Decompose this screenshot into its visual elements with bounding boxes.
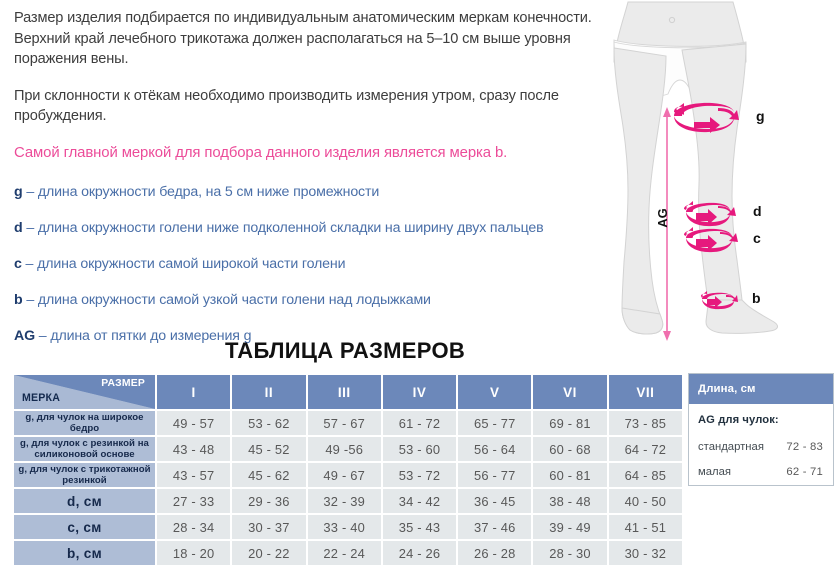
intro-paragraph-2: При склонности к отёкам необходимо произ…	[14, 86, 614, 127]
g-label: g	[756, 108, 765, 124]
size-table: РАЗМЕР МЕРКА I II III IV V VI VII g, для…	[12, 373, 684, 567]
length-row-name: малая	[698, 466, 731, 478]
cell-value: 49 - 67	[308, 463, 381, 487]
cell-value: 45 - 52	[232, 437, 305, 461]
length-panel-header: Длина, см	[689, 374, 833, 404]
row-label: d, см	[14, 489, 155, 513]
cell-value: 27 - 33	[157, 489, 230, 513]
legend-dash-d: –	[26, 220, 34, 236]
cell-value: 56 - 64	[458, 437, 531, 461]
cell-value: 69 - 81	[533, 411, 606, 435]
length-panel: Длина, см AG для чулок: стандартная 72 -…	[688, 373, 834, 486]
cell-value: 65 - 77	[458, 411, 531, 435]
cell-value: 53 - 62	[232, 411, 305, 435]
cell-value: 41 - 51	[609, 515, 682, 539]
legend-item-g: g – длина окружности бедра, на 5 см ниже…	[14, 183, 614, 201]
cell-value: 73 - 85	[609, 411, 682, 435]
c-label: c	[753, 230, 761, 246]
cell-value: 61 - 72	[383, 411, 456, 435]
cell-value: 43 - 57	[157, 463, 230, 487]
cell-value: 30 - 37	[232, 515, 305, 539]
cell-value: 43 - 48	[157, 437, 230, 461]
legend-text-d: длина окружности голени ниже подколенной…	[38, 220, 544, 236]
cell-value: 28 - 30	[533, 541, 606, 565]
legend-key-d: d	[14, 220, 23, 236]
row-label: g, для чулок с резинкой на силиконовой о…	[14, 437, 155, 461]
column-header-6: VI	[533, 375, 606, 409]
cell-value: 49 - 57	[157, 411, 230, 435]
row-label: g, для чулок на широкое бедро	[14, 411, 155, 435]
table-body: g, для чулок на широкое бедро 49 - 57 53…	[14, 411, 682, 565]
cell-value: 34 - 42	[383, 489, 456, 513]
row-label: c, см	[14, 515, 155, 539]
legend-text-b: длина окружности самой узкой части голен…	[38, 292, 431, 308]
table-header-row: РАЗМЕР МЕРКА I II III IV V VI VII	[14, 375, 682, 409]
cell-value: 57 - 67	[308, 411, 381, 435]
female-lower-body-figure	[614, 2, 777, 334]
cell-value: 28 - 34	[157, 515, 230, 539]
column-header-2: II	[232, 375, 305, 409]
cell-value: 30 - 32	[609, 541, 682, 565]
table-row: g, для чулок с трикотажной резинкой 43 -…	[14, 463, 682, 487]
legend-item-d: d – длина окружности голени ниже подколе…	[14, 219, 614, 237]
legend-dash-b: –	[26, 292, 34, 308]
length-row-value: 62 - 71	[786, 466, 823, 478]
table-row: d, см 27 - 33 29 - 36 32 - 39 34 - 42 36…	[14, 489, 682, 513]
cell-value: 60 - 81	[533, 463, 606, 487]
cell-value: 39 - 49	[533, 515, 606, 539]
legend-key-b: b	[14, 292, 23, 308]
cell-value: 18 - 20	[157, 541, 230, 565]
legend-item-b: b – длина окружности самой узкой части г…	[14, 291, 614, 309]
leg-measurement-illustration: AG g d c	[596, 0, 836, 345]
cell-value: 24 - 26	[383, 541, 456, 565]
cell-value: 37 - 46	[458, 515, 531, 539]
column-header-3: III	[308, 375, 381, 409]
legend-dash-c: –	[26, 256, 34, 272]
length-panel-subtitle: AG для чулок:	[689, 404, 833, 435]
cell-value: 49 -56	[308, 437, 381, 461]
d-label: d	[753, 203, 762, 219]
cell-value: 64 - 85	[609, 463, 682, 487]
column-header-4: IV	[383, 375, 456, 409]
cell-value: 53 - 72	[383, 463, 456, 487]
intro-text-column: Размер изделия подбирается по индивидуал…	[14, 8, 614, 363]
legend-item-c: c – длина окружности самой широкой части…	[14, 255, 614, 273]
cell-value: 38 - 48	[533, 489, 606, 513]
cell-value: 29 - 36	[232, 489, 305, 513]
ag-label: AG	[655, 208, 670, 228]
measurement-legend: g – длина окружности бедра, на 5 см ниже…	[14, 183, 614, 345]
length-row-name: стандартная	[698, 441, 764, 453]
legend-key-c: c	[14, 256, 22, 272]
table-corner-cell: РАЗМЕР МЕРКА	[14, 375, 155, 409]
b-label: b	[752, 290, 761, 306]
cell-value: 45 - 62	[232, 463, 305, 487]
row-label: g, для чулок с трикотажной резинкой	[14, 463, 155, 487]
page-title: ТАБЛИЦА РАЗМЕРОВ	[0, 338, 690, 364]
table-row: c, см 28 - 34 30 - 37 33 - 40 35 - 43 37…	[14, 515, 682, 539]
table-row: g, для чулок с резинкой на силиконовой о…	[14, 437, 682, 461]
intro-highlight: Самой главной меркой для подбора данного…	[14, 143, 614, 163]
legend-text-c: длина окружности самой широкой части гол…	[37, 256, 345, 272]
cell-value: 53 - 60	[383, 437, 456, 461]
cell-value: 26 - 28	[458, 541, 531, 565]
length-panel-row-small: малая 62 - 71	[689, 460, 833, 485]
legend-text-g: длина окружности бедра, на 5 см ниже про…	[38, 184, 379, 200]
corner-measure-label: МЕРКА	[22, 392, 60, 404]
cell-value: 60 - 68	[533, 437, 606, 461]
length-panel-row-standard: стандартная 72 - 83	[689, 435, 833, 460]
column-header-7: VII	[609, 375, 682, 409]
size-table-container: РАЗМЕР МЕРКА I II III IV V VI VII g, для…	[12, 373, 684, 567]
table-row: b, см 18 - 20 20 - 22 22 - 24 24 - 26 26…	[14, 541, 682, 565]
column-header-5: V	[458, 375, 531, 409]
row-label: b, см	[14, 541, 155, 565]
cell-value: 32 - 39	[308, 489, 381, 513]
cell-value: 40 - 50	[609, 489, 682, 513]
cell-value: 56 - 77	[458, 463, 531, 487]
column-header-1: I	[157, 375, 230, 409]
cell-value: 33 - 40	[308, 515, 381, 539]
cell-value: 22 - 24	[308, 541, 381, 565]
intro-paragraph-1: Размер изделия подбирается по индивидуал…	[14, 8, 614, 70]
table-header: РАЗМЕР МЕРКА I II III IV V VI VII	[14, 375, 682, 409]
corner-size-label: РАЗМЕР	[101, 378, 145, 389]
legend-dash-g: –	[26, 184, 34, 200]
legend-key-g: g	[14, 184, 23, 200]
length-row-value: 72 - 83	[786, 441, 823, 453]
cell-value: 20 - 22	[232, 541, 305, 565]
cell-value: 35 - 43	[383, 515, 456, 539]
table-row: g, для чулок на широкое бедро 49 - 57 53…	[14, 411, 682, 435]
cell-value: 64 - 72	[609, 437, 682, 461]
cell-value: 36 - 45	[458, 489, 531, 513]
